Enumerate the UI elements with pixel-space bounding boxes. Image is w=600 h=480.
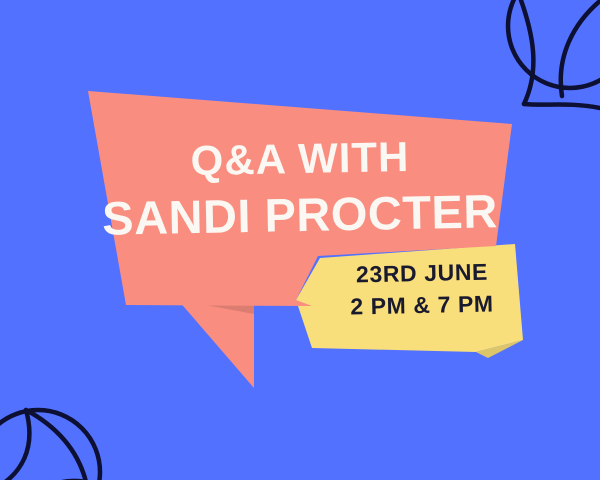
poster-canvas: Q&A WITH SANDI PROCTER 23RD JUNE 2 PM & …	[0, 0, 600, 480]
poster-artwork	[0, 0, 600, 480]
date-banner-shape	[296, 244, 523, 352]
